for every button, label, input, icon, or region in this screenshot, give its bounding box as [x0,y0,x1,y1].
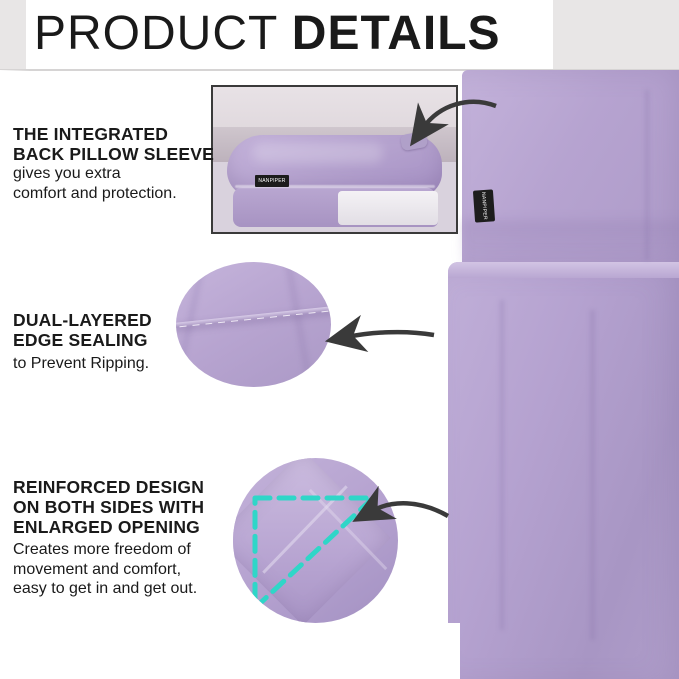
photo-back-pillow-sleeve: NANPIPER [211,85,458,234]
photo-brand-label-icon: NANPIPER [255,175,289,187]
callout-body-line2: comfort and protection. [13,184,218,204]
photo-brand-label-text: NANPIPER [258,178,285,184]
callout-headline-line2: EDGE SEALING [13,330,198,350]
header-band: PRODUCT DETAILS [0,0,679,70]
photo-pillow-highlight [253,143,383,163]
callout-headline-line2: BACK PILLOW SLEEVE [13,144,218,164]
callout-body-line1: to Prevent Ripping. [13,354,198,374]
blanket-lower-hem [448,262,679,278]
reinforced-triangle-overlay [233,458,398,623]
fabric-fold-line [645,90,649,260]
page-title-light: PRODUCT [34,7,292,60]
fabric-fold-line [285,262,314,387]
fabric-fold-line [500,300,504,630]
photo-edge-sealing [176,262,331,387]
page-title: PRODUCT DETAILS [34,6,501,61]
callout-headline-line2: ON BOTH SIDES WITH [13,497,243,517]
header-left-accent-bar [0,0,26,70]
callout-body-line2: movement and comfort, [13,560,243,580]
callout-text-pillow-sleeve: THE INTEGRATED BACK PILLOW SLEEVE gives … [13,124,218,203]
product-details-infographic: PRODUCT DETAILS NANPIPER NANPIPER [0,0,679,679]
photo-reinforced-corner [233,458,398,623]
callout-body-line1: gives you extra [13,164,218,184]
callout-headline-line3: ENLARGED OPENING [13,517,243,537]
callout-text-edge-sealing: DUAL-LAYERED EDGE SEALING to Prevent Rip… [13,310,198,374]
brand-tag-icon: NANPIPER [473,189,495,222]
callout-headline-line1: REINFORCED DESIGN [13,477,243,497]
header-right-accent-bar [553,0,679,70]
callout-headline-line1: THE INTEGRATED [13,124,218,144]
callout-body-line3: easy to get in and get out. [13,579,243,599]
brand-tag-text: NANPIPER [480,192,488,220]
product-photo-blanket: NANPIPER [440,70,679,679]
callout-text-reinforced-design: REINFORCED DESIGN ON BOTH SIDES WITH ENL… [13,477,243,599]
callout-headline-line1: DUAL-LAYERED [13,310,198,330]
bottom-white-strip [0,623,460,679]
page-title-bold: DETAILS [292,7,501,60]
photo-inner-lining [338,191,438,225]
fabric-fold-line [590,310,595,640]
blanket-lower-panel [448,262,679,679]
arrow-to-edge-photo [347,332,434,337]
callout-body-line1: Creates more freedom of [13,540,243,560]
